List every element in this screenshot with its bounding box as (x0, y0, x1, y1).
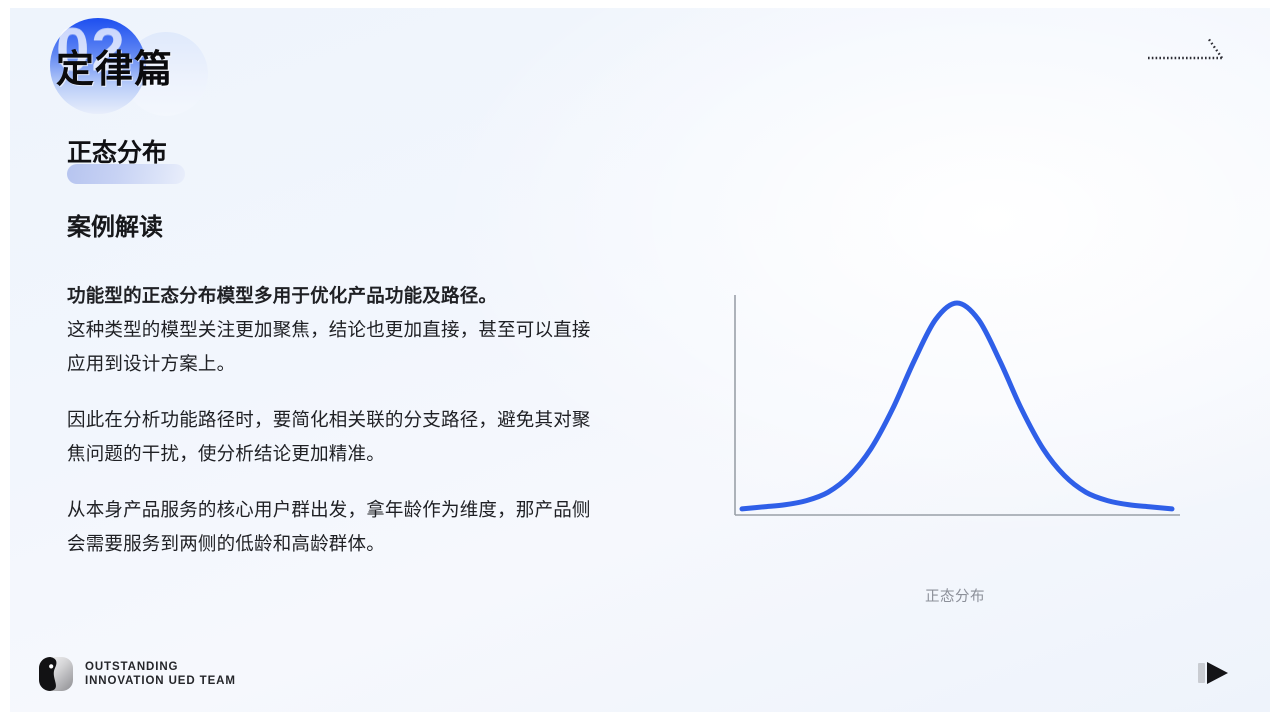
paragraph-spacer (67, 382, 592, 404)
brand-logo-icon (38, 656, 74, 692)
next-slide-button[interactable] (1196, 658, 1236, 688)
footer-brand: OUTSTANDING INNOVATION UED TEAM (38, 656, 236, 692)
chart-svg (710, 273, 1210, 573)
paragraph-1: 这种类型的模型关注更加聚焦，结论也更加直接，甚至可以直接应用到设计方案上。 (67, 314, 592, 382)
topic-heading: 正态分布 (67, 140, 167, 186)
body-copy: 功能型的正态分布模型多用于优化产品功能及路径。 这种类型的模型关注更加聚焦，结论… (67, 280, 592, 562)
paragraph-3: 从本身产品服务的核心用户群出发，拿年龄作为维度，那产品侧会需要服务到两侧的低龄和… (67, 494, 592, 562)
brand-text: OUTSTANDING INNOVATION UED TEAM (85, 660, 236, 689)
slide-canvas: 02 定律篇 正态分布 案例解读 功能型的正态分布模型多用于优化产品功能及路径。… (10, 8, 1270, 712)
topic-underline-pill (67, 164, 185, 184)
normal-distribution-chart: 正态分布 (710, 273, 1210, 618)
paragraph-spacer (67, 472, 592, 494)
topic-heading-label: 正态分布 (67, 140, 167, 165)
slide: 02 定律篇 正态分布 案例解读 功能型的正态分布模型多用于优化产品功能及路径。… (0, 0, 1280, 720)
chart-caption: 正态分布 (710, 585, 1200, 606)
paragraph-2: 因此在分析功能路径时，要简化相关联的分支路径，避免其对聚焦问题的干扰，使分析结论… (67, 404, 592, 472)
header-badge: 02 定律篇 (42, 12, 302, 122)
chart-bell-curve (742, 303, 1172, 509)
section-title: 定律篇 (56, 50, 173, 88)
subheading-label: 案例解读 (67, 213, 163, 242)
dotted-arrow-icon (1146, 32, 1232, 66)
brand-line-2: INNOVATION UED TEAM (85, 674, 236, 688)
paragraph-lead: 功能型的正态分布模型多用于优化产品功能及路径。 (67, 280, 592, 314)
brand-line-1: OUTSTANDING (85, 660, 236, 674)
